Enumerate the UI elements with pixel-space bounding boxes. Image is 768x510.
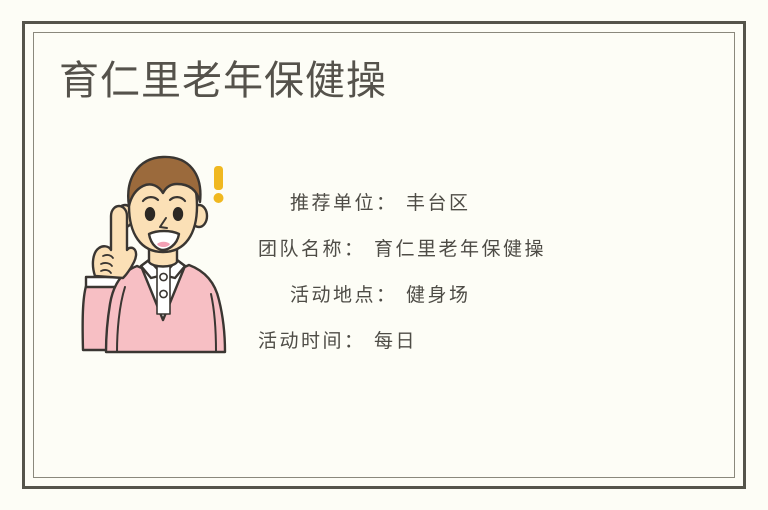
exclamation-icon	[214, 166, 224, 203]
info-block: 推荐单位： 丰台区 团队名称： 育仁里老年保健操 活动地点： 健身场 活动时间：…	[258, 188, 718, 372]
info-line-activity-place: 活动地点： 健身场	[258, 280, 718, 326]
info-line-team-name: 团队名称： 育仁里老年保健操	[258, 234, 718, 280]
page-title: 育仁里老年保健操	[59, 59, 387, 103]
info-line-recommend-unit: 推荐单位： 丰台区	[258, 188, 718, 234]
info-line-activity-time: 活动时间： 每日	[258, 326, 718, 372]
pointing-man-illustration	[65, 144, 251, 354]
card-body: 推荐单位： 丰台区 团队名称： 育仁里老年保健操 活动地点： 健身场 活动时间：…	[25, 136, 743, 366]
info-card: 育仁里老年保健操	[22, 21, 746, 489]
